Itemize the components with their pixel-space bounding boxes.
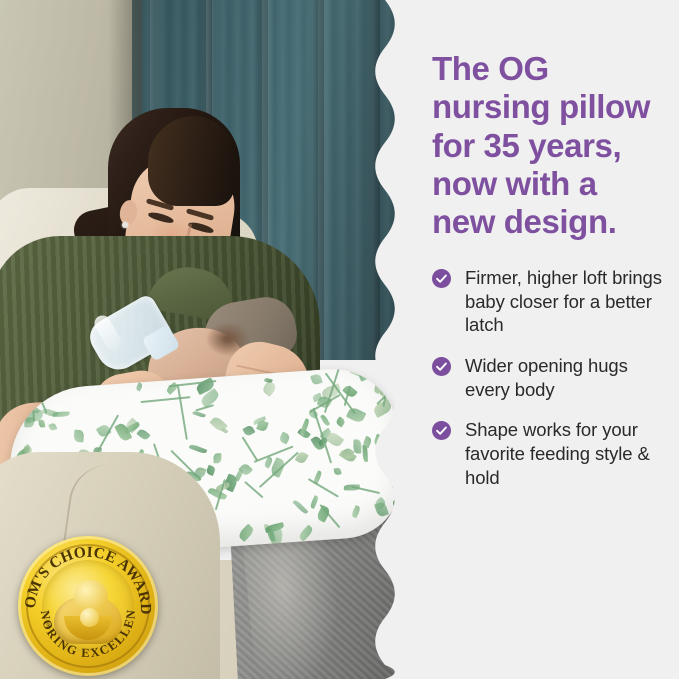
check-circle-icon xyxy=(432,421,451,440)
feature-item-0: Firmer, higher loft brings baby closer f… xyxy=(432,266,662,337)
feature-item-label: Firmer, higher loft brings baby closer f… xyxy=(465,266,662,337)
feature-item-1: Wider opening hugs every body xyxy=(432,354,662,401)
feature-list: Firmer, higher loft brings baby closer f… xyxy=(432,266,662,506)
feature-item-label: Shape works for your favorite feeding st… xyxy=(465,418,662,489)
earring xyxy=(122,222,128,228)
headline-line-3: now with a xyxy=(432,165,672,203)
badge-registered-mark: ® xyxy=(46,622,51,630)
lifestyle-photo: MOM'S CHOICE AWARDS HONORING EXCELLENCE … xyxy=(0,0,400,679)
product-feature-image: MOM'S CHOICE AWARDS HONORING EXCELLENCE … xyxy=(0,0,679,679)
marketing-copy-panel: The OGnursing pillowfor 35 years,now wit… xyxy=(432,0,679,679)
headline-line-0: The OG xyxy=(432,50,672,88)
headline-line-2: for 35 years, xyxy=(432,127,672,165)
feature-item-2: Shape works for your favorite feeding st… xyxy=(432,418,662,489)
headline-line-1: nursing pillow xyxy=(432,88,672,126)
check-circle-icon xyxy=(432,269,451,288)
headline-line-4: new design. xyxy=(432,203,672,241)
badge-child-figure xyxy=(80,608,99,627)
page-title: The OGnursing pillowfor 35 years,now wit… xyxy=(432,50,672,241)
moms-choice-awards-badge: MOM'S CHOICE AWARDS HONORING EXCELLENCE … xyxy=(18,536,158,676)
check-circle-icon xyxy=(432,357,451,376)
feature-item-label: Wider opening hugs every body xyxy=(465,354,662,401)
